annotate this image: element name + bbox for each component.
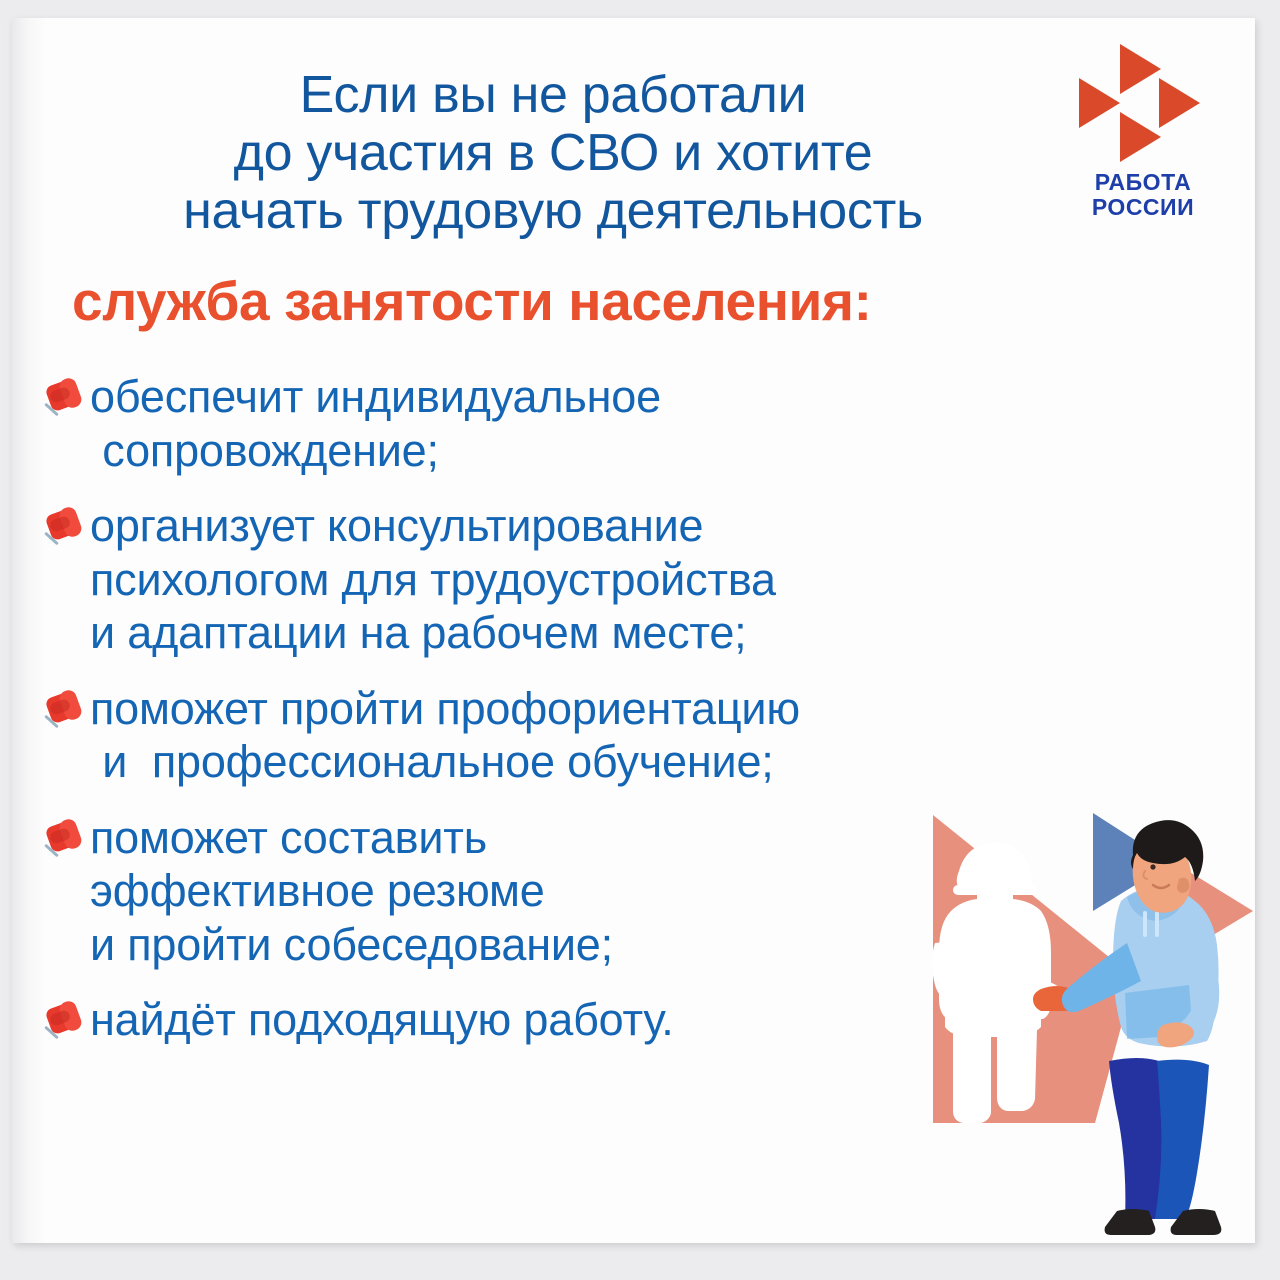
list-item: поможет пройти профориентацию и професси… bbox=[34, 682, 1224, 789]
logo-triangle-bottom-icon bbox=[1120, 112, 1161, 162]
logo-triangle-left-icon bbox=[1079, 78, 1120, 128]
man-front-leg-shape bbox=[1155, 1060, 1209, 1219]
page-title-line-3: начать трудовую деятельность bbox=[48, 182, 1058, 240]
logo-wordmark-line2: РОССИИ bbox=[1057, 195, 1229, 220]
pushpin-icon bbox=[34, 505, 90, 559]
subheading: служба занятости населения: bbox=[72, 271, 1122, 332]
list-item: поможет составить эффективное резюме и п… bbox=[34, 811, 1224, 972]
pushpin-icon bbox=[34, 376, 90, 430]
list-item-label: организует консультирование психологом д… bbox=[90, 499, 776, 660]
man-back-leg-shape bbox=[1109, 1058, 1164, 1219]
pushpin-icon bbox=[34, 817, 90, 871]
list-item: организует консультирование психологом д… bbox=[34, 499, 1224, 660]
logo-triangle-right-icon bbox=[1159, 78, 1200, 128]
page-title-line-2: до участия в СВО и хотите bbox=[48, 124, 1058, 182]
page-title-line-1: Если вы не работали bbox=[48, 66, 1058, 124]
pushpin-icon bbox=[34, 688, 90, 742]
list-item-label: поможет пройти профориентацию и професси… bbox=[90, 682, 800, 789]
logo-triangles bbox=[1079, 44, 1207, 162]
list-item: найдёт подходящую работу. bbox=[34, 993, 1224, 1053]
logo-triangle-top-icon bbox=[1120, 44, 1161, 94]
pushpin-icon bbox=[34, 999, 90, 1053]
list-item-label: найдёт подходящую работу. bbox=[90, 993, 674, 1047]
benefits-list: обеспечит индивидуальное сопровождение; … bbox=[34, 370, 1224, 1075]
list-item: обеспечит индивидуальное сопровождение; bbox=[34, 370, 1224, 477]
list-item-label: поможет составить эффективное резюме и п… bbox=[90, 811, 613, 972]
man-back-shoe-shape bbox=[1105, 1209, 1156, 1235]
list-item-label: обеспечит индивидуальное сопровождение; bbox=[90, 370, 661, 477]
poster-card: РАБОТА РОССИИ Если вы не работали до уча… bbox=[12, 18, 1255, 1243]
page-title: Если вы не работали до участия в СВО и х… bbox=[48, 66, 1058, 241]
rabota-rossii-logo: РАБОТА РОССИИ bbox=[1057, 44, 1229, 219]
logo-wordmark-line1: РАБОТА bbox=[1057, 170, 1229, 195]
